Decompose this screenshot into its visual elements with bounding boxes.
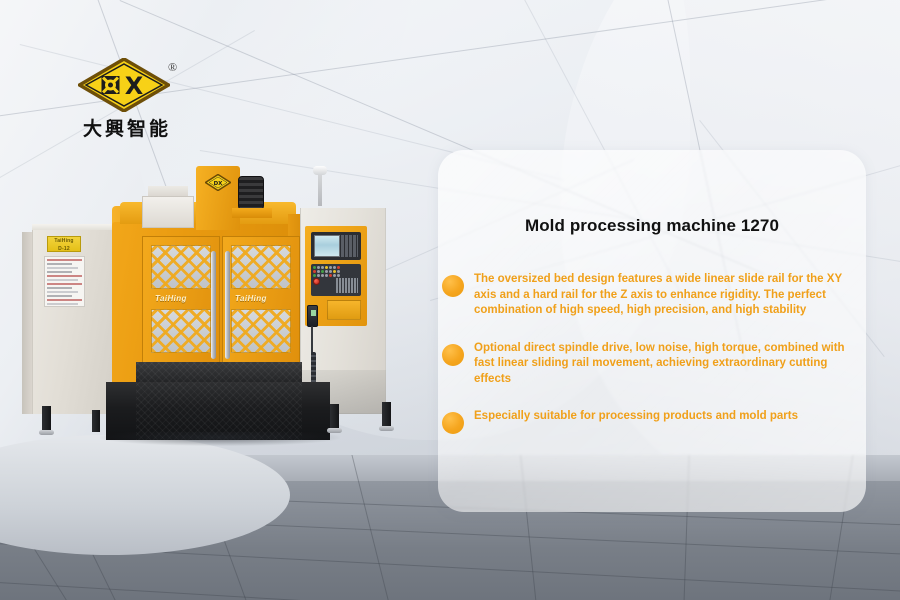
- machine-leg: [42, 406, 51, 432]
- door-brand-plate-right: TaiHing: [235, 294, 267, 303]
- machine-leg: [92, 410, 100, 432]
- cnc-lcd: [314, 235, 340, 257]
- machine-ground-shadow: [100, 432, 340, 446]
- product-title: Mold processing machine 1270: [438, 216, 866, 236]
- bullet-dot-icon: [442, 275, 464, 297]
- door-window-lattice: [231, 309, 291, 353]
- bullet-dot-icon: [442, 344, 464, 366]
- machine-leg: [382, 402, 391, 428]
- feature-text: The oversized bed design features a wide…: [474, 272, 866, 319]
- feature-text: Especially suitable for processing produ…: [474, 409, 866, 425]
- cabinet-label-line2: D-12: [48, 245, 80, 253]
- cabinet-label-line1: TaiHing: [48, 237, 80, 245]
- svg-text:X: X: [125, 72, 144, 100]
- feature-text: Optional direct spindle drive, low noise…: [474, 341, 866, 388]
- product-showcase-image: TaiHing D-12 DX TaiHing: [0, 0, 900, 600]
- cabinet-top-edge: [32, 224, 118, 230]
- tool-changer-drum: [238, 176, 264, 210]
- door-window-lattice: [231, 245, 291, 289]
- emergency-stop-button[interactable]: [313, 278, 320, 285]
- machine-leveling-foot: [39, 430, 54, 435]
- dx-diamond-icon: X: [78, 58, 170, 112]
- dx-badge-icon: DX: [205, 174, 231, 191]
- product-info-panel: Mold processing machine 1270 The oversiz…: [438, 150, 866, 512]
- bullet-dot-icon: [442, 412, 464, 434]
- door-brand-plate-left: TaiHing: [155, 294, 187, 303]
- list-item: Especially suitable for processing produ…: [438, 409, 866, 433]
- cabinet-brand-label: TaiHing D-12: [47, 236, 81, 252]
- pendant-led-icon: [311, 310, 316, 316]
- handheld-pendant[interactable]: [307, 305, 318, 327]
- company-logo: X ® 大興智能: [72, 58, 182, 140]
- tool-changer-base: [232, 208, 272, 218]
- list-item: Optional direct spindle drive, low noise…: [438, 341, 866, 388]
- door-window-lattice: [151, 245, 211, 289]
- signal-lamp-icon: [313, 166, 327, 175]
- cnc-machine: TaiHing D-12 DX TaiHing: [0, 0, 470, 470]
- control-panel-drawer[interactable]: [327, 300, 361, 320]
- registered-trademark-icon: ®: [168, 60, 177, 75]
- cnc-softkey-grid[interactable]: [341, 235, 358, 257]
- feature-list: The oversized bed design features a wide…: [438, 272, 866, 455]
- column-logo-badge: DX: [205, 174, 231, 191]
- cabinet-warning-label: [44, 256, 85, 307]
- machine-leveling-foot: [327, 428, 342, 433]
- svg-text:DX: DX: [214, 181, 224, 187]
- door-handle-left[interactable]: [211, 251, 216, 359]
- spindle-head-housing: [142, 196, 194, 228]
- machine-leg: [330, 404, 339, 430]
- door-handle-right[interactable]: [225, 251, 230, 359]
- base-checker-texture: [136, 362, 302, 440]
- company-name-chinese: 大興智能: [72, 114, 182, 141]
- list-item: The oversized bed design features a wide…: [438, 272, 866, 319]
- enclosure-door-right[interactable]: TaiHing: [222, 236, 300, 368]
- door-window-lattice: [151, 309, 211, 353]
- cnc-display-screen[interactable]: [311, 232, 361, 260]
- cnc-number-pad[interactable]: [336, 278, 358, 293]
- signal-lamp-pole: [318, 172, 322, 206]
- machine-leveling-foot: [379, 426, 394, 431]
- enclosure-door-left[interactable]: TaiHing: [142, 236, 220, 368]
